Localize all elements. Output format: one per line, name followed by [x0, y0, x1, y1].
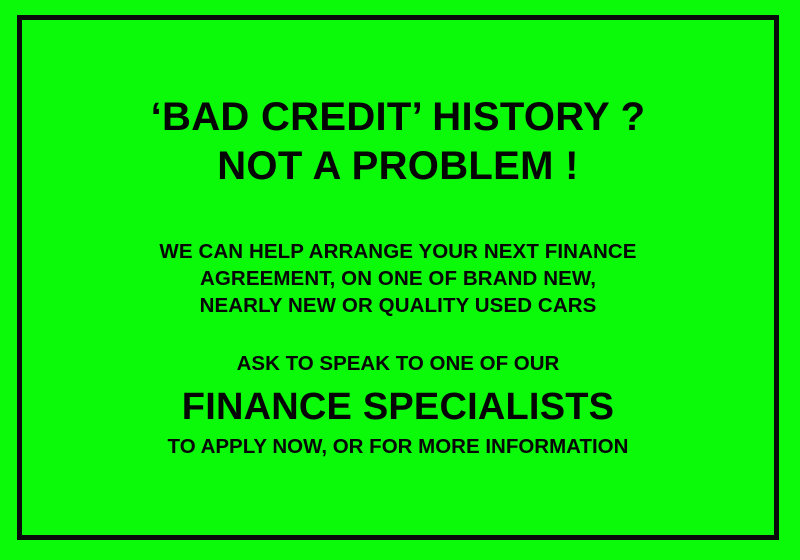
cta-footer-text: TO APPLY NOW, OR FOR MORE INFORMATION: [22, 433, 774, 460]
poster-content: ‘BAD CREDIT’ HISTORY ? NOT A PROBLEM ! W…: [22, 20, 774, 535]
body-copy-block: WE CAN HELP ARRANGE YOUR NEXT FINANCE AG…: [22, 238, 774, 319]
body-line-3: NEARLY NEW OR QUALITY USED CARS: [22, 292, 774, 319]
headline-line-1: ‘BAD CREDIT’ HISTORY ?: [22, 93, 774, 142]
headline-block: ‘BAD CREDIT’ HISTORY ? NOT A PROBLEM !: [22, 93, 774, 191]
body-line-1: WE CAN HELP ARRANGE YOUR NEXT FINANCE: [22, 238, 774, 265]
advertisement-poster: ‘BAD CREDIT’ HISTORY ? NOT A PROBLEM ! W…: [0, 0, 800, 560]
headline-line-2: NOT A PROBLEM !: [22, 142, 774, 191]
body-line-2: AGREEMENT, ON ONE OF BRAND NEW,: [22, 265, 774, 292]
cta-lead-text: ASK TO SPEAK TO ONE OF OUR: [22, 350, 774, 377]
call-to-action-block: ASK TO SPEAK TO ONE OF OUR FINANCE SPECI…: [22, 350, 774, 460]
cta-headline-finance-specialists: FINANCE SPECIALISTS: [22, 383, 774, 431]
